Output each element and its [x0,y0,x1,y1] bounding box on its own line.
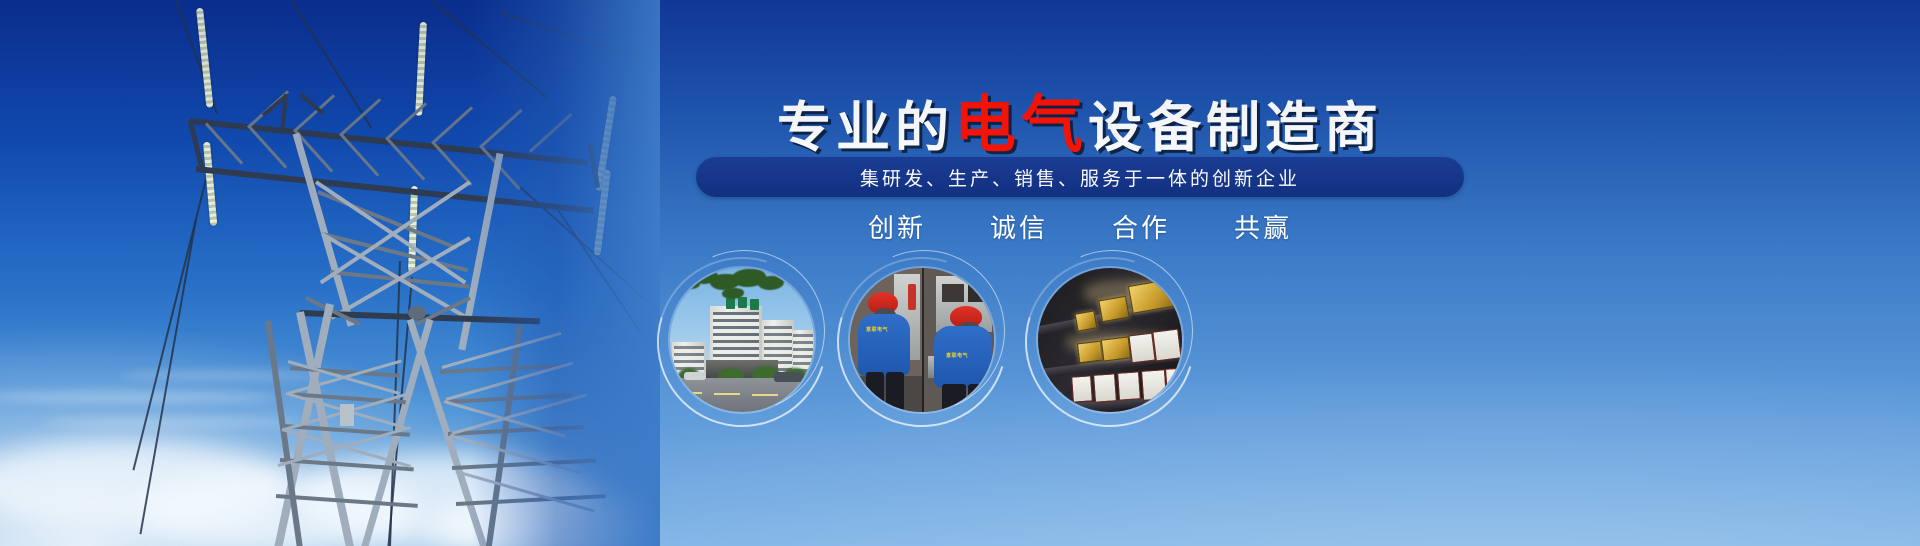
headline-suffix: 设备制造商 [1088,98,1383,158]
headline-prefix: 专业的 [777,98,954,158]
uniform-text: 意联电气 [946,352,968,359]
keyword-list: 创新 诚信 合作 共赢 [660,208,1500,245]
certificate-wall-image [1038,268,1182,412]
workers-image: 意联电气 意联电气 [850,268,994,412]
keyword-winwin: 共赢 [1234,208,1292,245]
transmission-tower-photo [0,0,660,546]
page-title: 专业的电气设备制造商 [660,74,1500,164]
office-building-image [670,268,814,412]
banner-root: 专业的电气设备制造商 集研发、生产、销售、服务于一体的创新企业 创新 诚信 合作… [0,0,1920,546]
keyword-integrity: 诚信 [990,208,1048,245]
uniform-text: 意联电气 [866,326,888,333]
keyword-cooperation: 合作 [1112,208,1170,245]
photo-fade [470,0,660,546]
photo-circle-certificates[interactable] [1038,268,1182,412]
headline-highlight: 电气 [954,91,1088,160]
keyword-innovation: 创新 [868,208,926,245]
photo-circle-workers[interactable]: 意联电气 意联电气 [850,268,994,412]
slogan-pill: 集研发、生产、销售、服务于一体的创新企业 [696,157,1464,197]
photo-circle-group: 意联电气 意联电气 [660,260,1500,440]
content-area: 专业的电气设备制造商 集研发、生产、销售、服务于一体的创新企业 创新 诚信 合作… [660,0,1920,546]
photo-circle-office[interactable] [670,268,814,412]
slogan-text: 集研发、生产、销售、服务于一体的创新企业 [860,164,1300,191]
